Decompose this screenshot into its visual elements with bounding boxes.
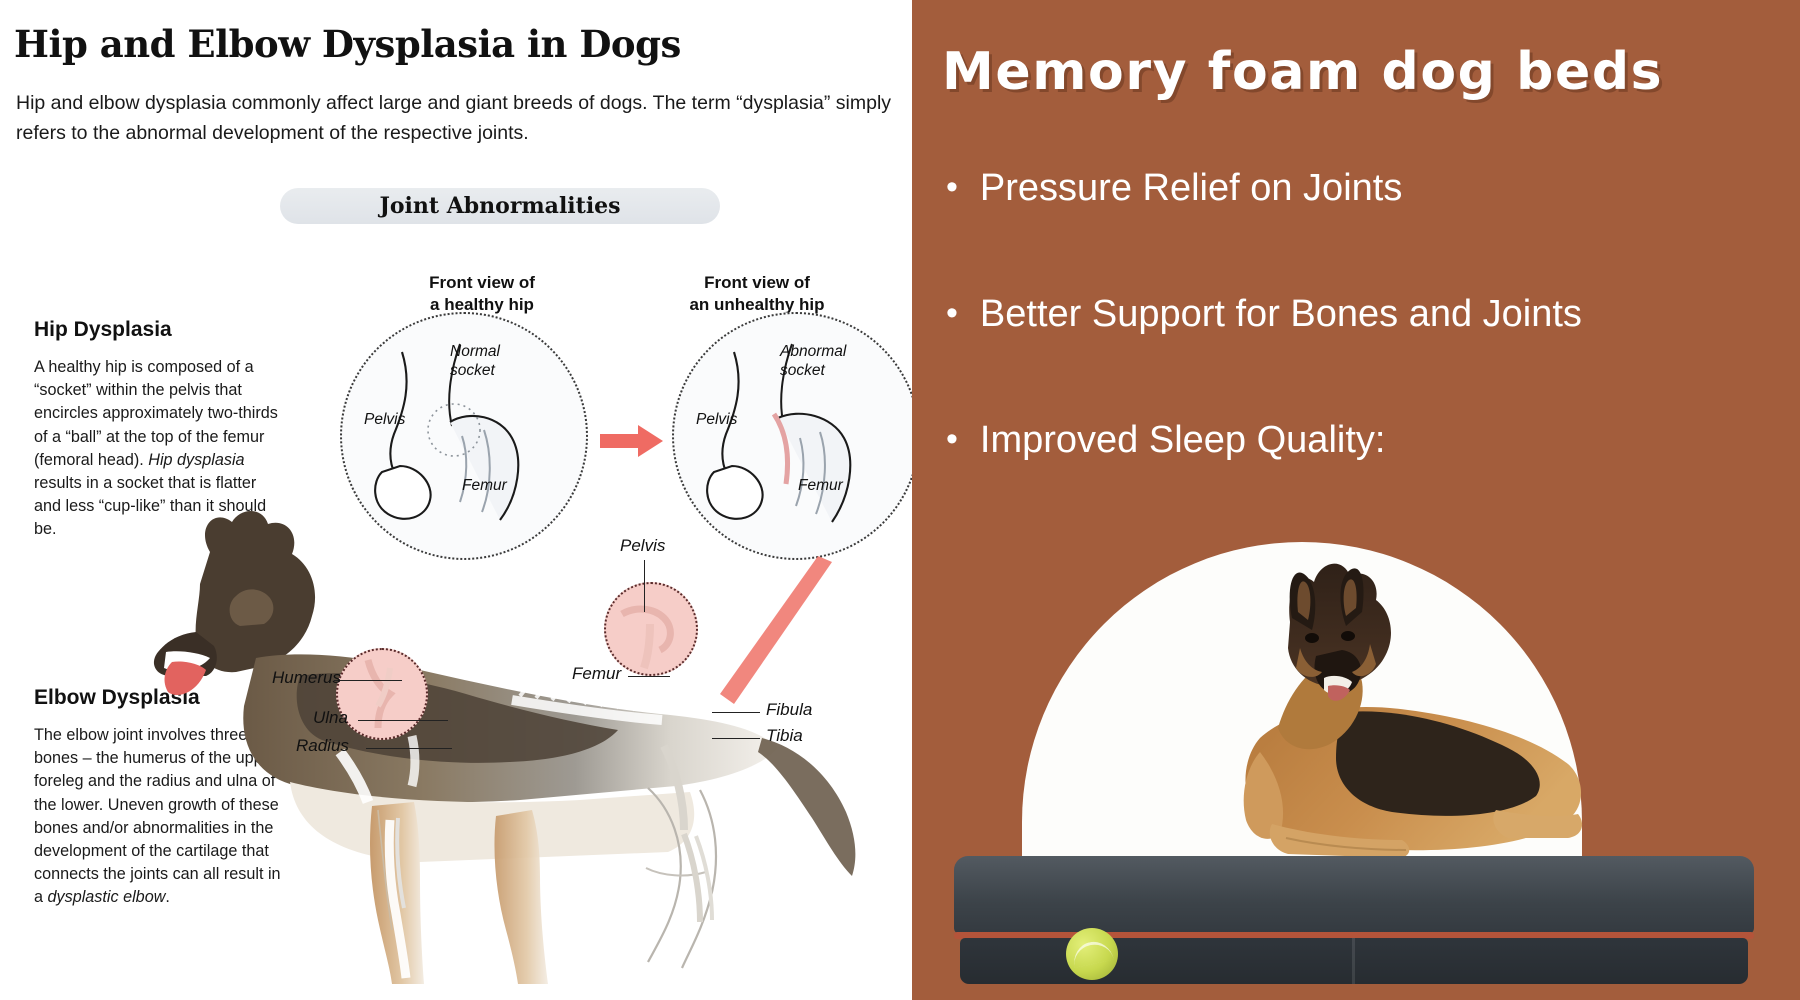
unhealthy-hip-caption: Front view of an unhealthy hip bbox=[672, 272, 842, 316]
hip-joint-bones bbox=[606, 584, 696, 674]
femur-label: Femur bbox=[572, 664, 621, 684]
page-title: Hip and Elbow Dysplasia in Dogs bbox=[14, 22, 681, 66]
benefit-text: Better Support for Bones and Joints bbox=[980, 288, 1582, 340]
femur-leader-line bbox=[628, 676, 670, 677]
pelvis-label-unhealthy: Pelvis bbox=[696, 410, 737, 429]
ulna-label: Ulna bbox=[313, 708, 348, 728]
elbow-joint-highlight bbox=[336, 648, 428, 740]
radius-label: Radius bbox=[296, 736, 349, 756]
promo-title: Memory foam dog beds bbox=[942, 42, 1772, 102]
list-item: • Improved Sleep Quality: bbox=[928, 414, 1798, 466]
healthy-hip-caption: Front view of a healthy hip bbox=[402, 272, 562, 316]
humerus-label: Humerus bbox=[272, 668, 341, 688]
normal-socket-label: Normal socket bbox=[450, 342, 500, 380]
elbow-joint-bones bbox=[338, 650, 426, 738]
tennis-ball bbox=[1066, 928, 1118, 980]
product-photo bbox=[912, 480, 1800, 1000]
abnormal-socket-line1: Abnormal bbox=[780, 342, 846, 361]
dog-body-drawing bbox=[0, 500, 912, 1000]
ulna-leader-line bbox=[358, 720, 448, 721]
left-infographic-panel: Hip and Elbow Dysplasia in Dogs Hip and … bbox=[0, 0, 912, 1000]
abnormal-socket-label: Abnormal socket bbox=[780, 342, 846, 380]
fibula-leader-line bbox=[712, 712, 760, 713]
hip-body-italic: Hip dysplasia bbox=[148, 451, 244, 469]
hip-joint-highlight bbox=[604, 582, 698, 676]
healthy-hip-caption-line1: Front view of bbox=[402, 272, 562, 294]
benefit-text: Improved Sleep Quality: bbox=[980, 414, 1386, 466]
list-item: • Pressure Relief on Joints bbox=[928, 162, 1798, 214]
unhealthy-hip-caption-line2: an unhealthy hip bbox=[672, 294, 842, 316]
joint-abnormalities-banner: Joint Abnormalities bbox=[280, 188, 720, 224]
pelvis-label-healthy: Pelvis bbox=[364, 410, 405, 429]
hip-dysplasia-heading: Hip Dysplasia bbox=[34, 318, 172, 342]
memory-foam-bed bbox=[954, 856, 1754, 986]
unhealthy-hip-caption-line1: Front view of bbox=[672, 272, 842, 294]
normal-socket-line1: Normal bbox=[450, 342, 500, 361]
dog-anatomy-illustration: Pelvis Humerus Ulna Radius Femur Fibula … bbox=[0, 500, 912, 1000]
intro-paragraph: Hip and elbow dysplasia commonly affect … bbox=[16, 88, 896, 148]
pelvis-leader-line bbox=[644, 560, 645, 612]
benefit-text: Pressure Relief on Joints bbox=[980, 162, 1402, 214]
humerus-leader-line bbox=[334, 680, 402, 681]
promo-panel: Memory foam dog beds • Pressure Relief o… bbox=[912, 0, 1800, 1000]
femur-label-unhealthy: Femur bbox=[798, 476, 843, 495]
infographic-page: Hip and Elbow Dysplasia in Dogs Hip and … bbox=[0, 0, 1800, 1000]
abnormal-socket-line2: socket bbox=[780, 361, 846, 380]
bullet-marker-icon: • bbox=[946, 414, 958, 464]
banner-label: Joint Abnormalities bbox=[379, 193, 620, 219]
tennis-ball-seam bbox=[1070, 938, 1114, 968]
radius-leader-line bbox=[366, 748, 452, 749]
femur-label-healthy: Femur bbox=[462, 476, 507, 495]
bullet-marker-icon: • bbox=[946, 162, 958, 212]
pelvis-label: Pelvis bbox=[620, 536, 665, 556]
bullet-marker-icon: • bbox=[946, 288, 958, 338]
bed-center-seam bbox=[1352, 938, 1355, 984]
normal-socket-line2: socket bbox=[450, 361, 500, 380]
fibula-label: Fibula bbox=[766, 700, 812, 720]
tibia-leader-line bbox=[712, 738, 760, 739]
german-shepherd-photo bbox=[1140, 552, 1610, 882]
bed-top-surface bbox=[954, 856, 1754, 934]
tibia-label: Tibia bbox=[766, 726, 803, 746]
list-item: • Better Support for Bones and Joints bbox=[928, 288, 1798, 340]
transition-arrow-icon bbox=[600, 424, 664, 458]
